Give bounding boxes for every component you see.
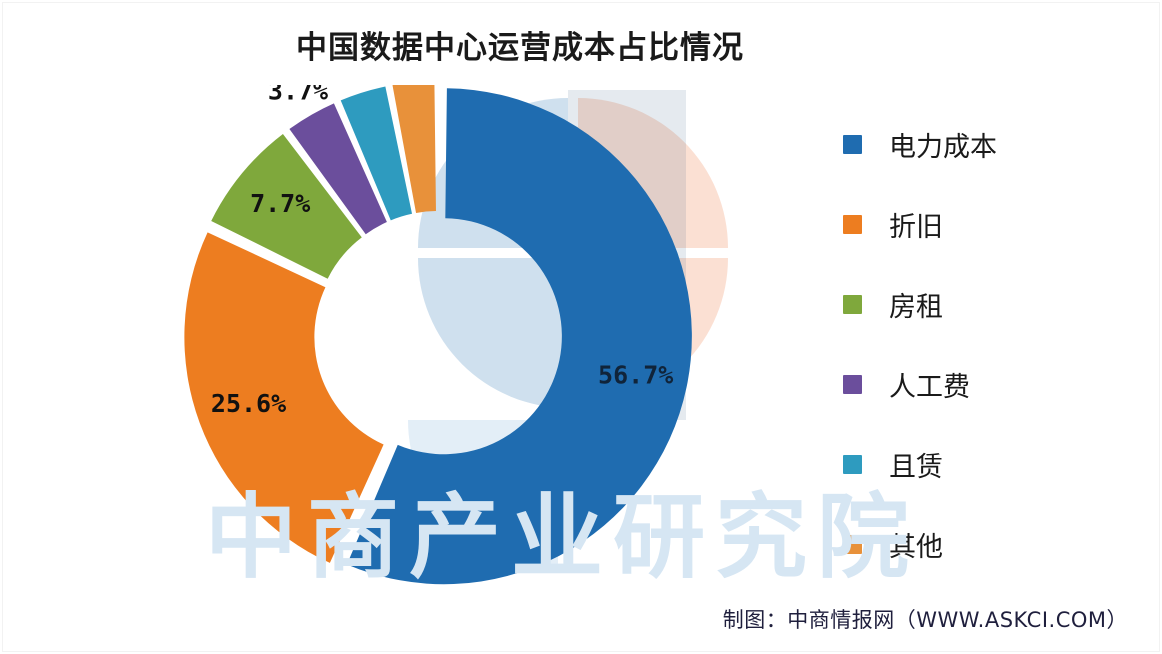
legend-item-3[interactable]: 人工费 [843,344,1103,424]
pie-slice-label-0: 56.7% [598,361,673,390]
chart-title: 中国数据中心运营成本占比情况 [0,22,1040,67]
legend-swatch-icon-2 [843,295,862,314]
legend-label-1: 折旧 [889,205,943,244]
legend-swatch-icon-5 [843,535,862,554]
donut-chart: 56.7%25.6%7.7%3.7%3.4%3.1% [178,85,698,585]
legend-swatch-icon-1 [843,215,862,234]
legend-item-4[interactable]: 且赁 [843,424,1103,504]
pie-slice-label-2: 7.7% [250,189,310,218]
chart-canvas: 中商产业研究院 中国数据中心运营成本占比情况 56.7%25.6%7.7%3.7… [0,0,1162,654]
legend-label-4: 且赁 [889,445,943,484]
legend-item-5[interactable]: 其他 [843,504,1103,584]
pie-slice-label-1: 25.6% [211,389,286,418]
chart-legend: 电力成本 折旧 房租 人工费 且赁 其他 [843,104,1103,584]
legend-label-3: 人工费 [889,365,970,404]
legend-swatch-icon-3 [843,375,862,394]
legend-item-2[interactable]: 房租 [843,264,1103,344]
pie-slice-label-3: 3.7% [268,85,328,106]
legend-item-1[interactable]: 折旧 [843,184,1103,264]
legend-item-0[interactable]: 电力成本 [843,104,1103,184]
legend-label-0: 电力成本 [889,125,997,164]
legend-label-5: 其他 [889,525,943,564]
legend-swatch-icon-0 [843,135,862,154]
legend-swatch-icon-4 [843,455,862,474]
legend-label-2: 房租 [889,285,943,324]
footer-credit: 制图：中商情报网（WWW.ASKCI.COM） [723,604,1128,634]
